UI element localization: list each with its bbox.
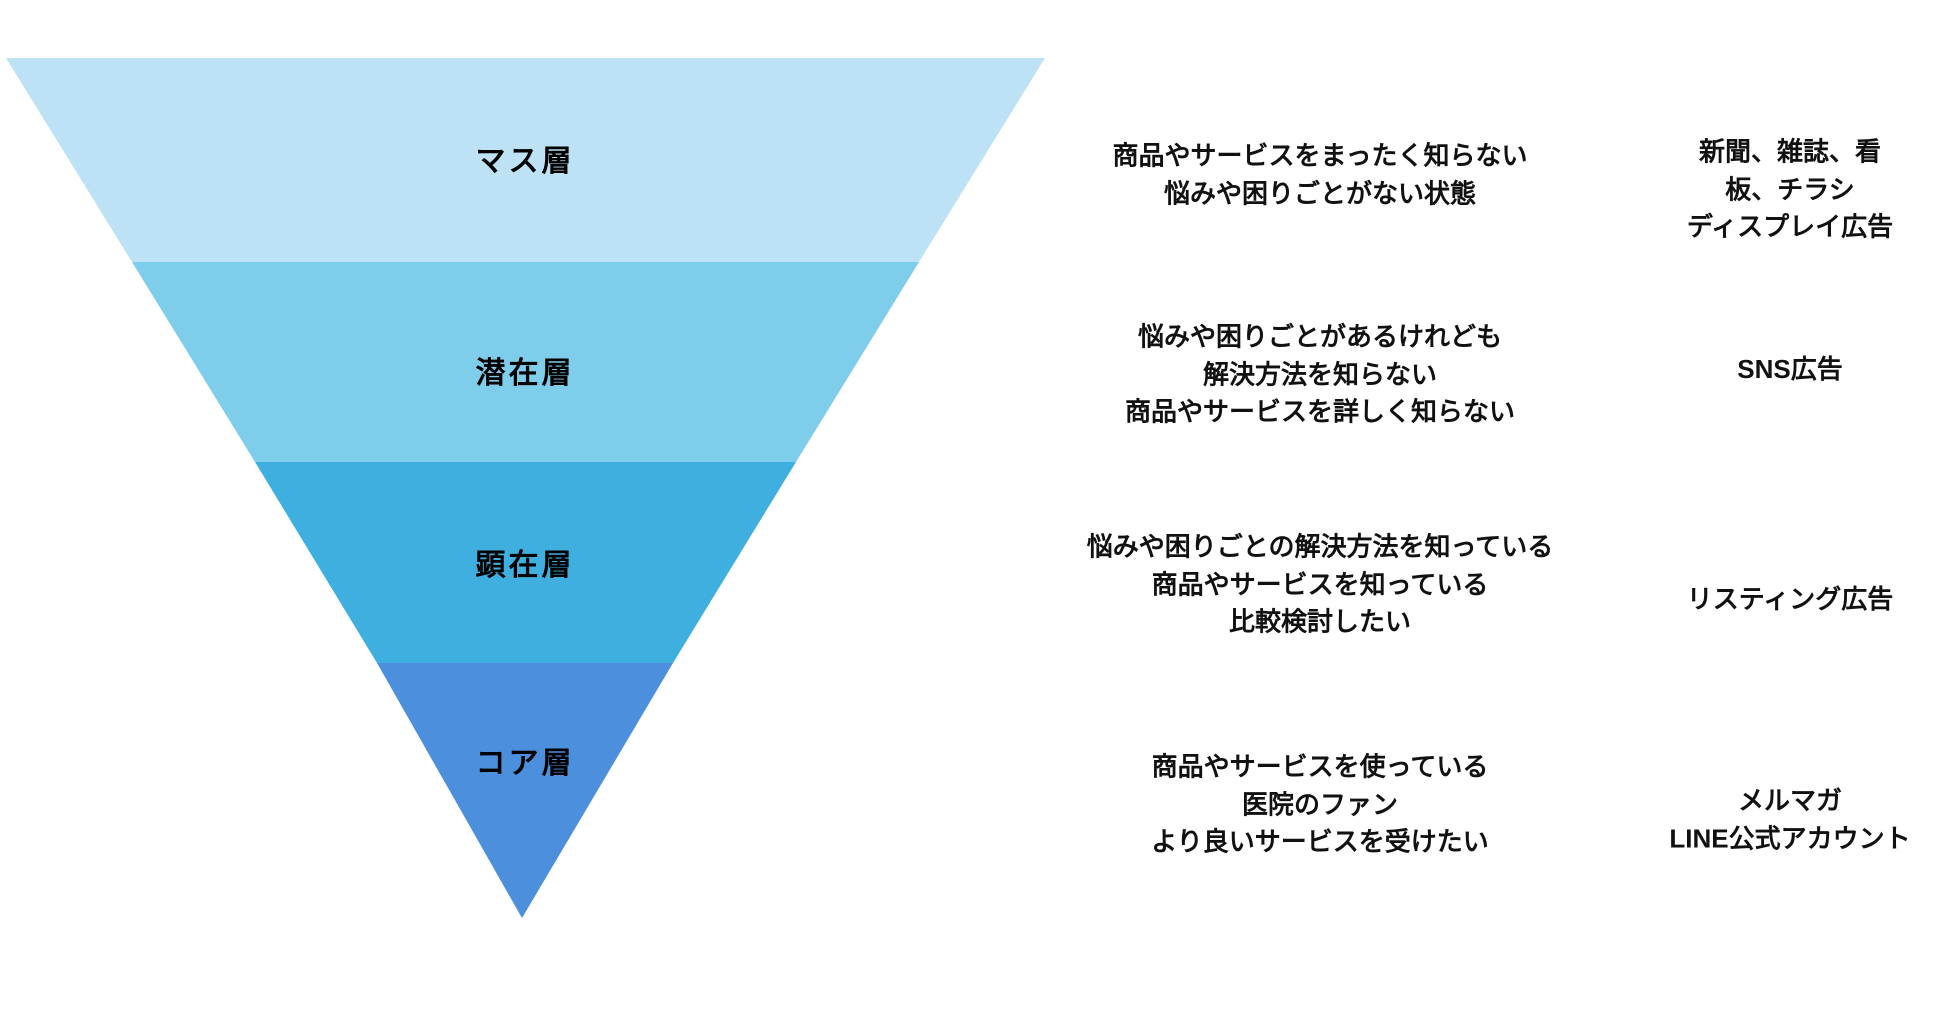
channel-line: LINE公式アカウント xyxy=(1640,820,1940,858)
description-line: 医院のファン xyxy=(1020,786,1620,824)
channel-line: リスティング広告 xyxy=(1640,581,1940,619)
funnel-band-1 xyxy=(6,58,1045,262)
funnel-band-2 xyxy=(132,262,919,462)
channel-line: 新聞、雑誌、看 xyxy=(1640,133,1940,171)
description-line: 比較検討したい xyxy=(1020,604,1620,642)
channel-group-2: SNS広告 xyxy=(1640,351,1940,389)
description-line: 悩みや困りごとがあるけれども xyxy=(1020,318,1620,356)
description-group-1: 商品やサービスをまったく知らない 悩みや困りごとがない状態 xyxy=(1020,137,1620,212)
funnel-band-4 xyxy=(377,663,673,918)
diagram-canvas: マス層 潜在層 顕在層 コア層 商品やサービスをまったく知らない 悩みや困りごと… xyxy=(0,0,1954,1024)
funnel-figure: マス層 潜在層 顕在層 コア層 xyxy=(0,0,1100,1000)
description-group-2: 悩みや困りごとがあるけれども 解決方法を知らない 商品やサービスを詳しく知らない xyxy=(1020,318,1620,431)
description-line: 商品やサービスを知っている xyxy=(1020,566,1620,604)
description-line: 商品やサービスを使っている xyxy=(1020,748,1620,786)
description-line: より良いサービスを受けたい xyxy=(1020,824,1620,862)
channel-group-4: メルマガ LINE公式アカウント xyxy=(1640,782,1940,857)
description-line: 悩みや困りごとの解決方法を知っている xyxy=(1020,528,1620,566)
channel-line: 板、チラシ xyxy=(1640,171,1940,209)
description-line: 商品やサービスをまったく知らない xyxy=(1020,137,1620,175)
channel-line: メルマガ xyxy=(1640,782,1940,820)
funnel-band-3 xyxy=(255,462,796,663)
description-group-4: 商品やサービスを使っている 医院のファン より良いサービスを受けたい xyxy=(1020,748,1620,861)
description-line: 解決方法を知らない xyxy=(1020,356,1620,394)
channel-line: SNS広告 xyxy=(1640,351,1940,389)
channel-group-3: リスティング広告 xyxy=(1640,581,1940,619)
channel-group-1: 新聞、雑誌、看 板、チラシ ディスプレイ広告 xyxy=(1640,133,1940,246)
description-line: 商品やサービスを詳しく知らない xyxy=(1020,394,1620,432)
funnel-svg xyxy=(0,0,1100,1000)
description-line: 悩みや困りごとがない状態 xyxy=(1020,175,1620,213)
channel-line: ディスプレイ広告 xyxy=(1640,209,1940,247)
description-group-3: 悩みや困りごとの解決方法を知っている 商品やサービスを知っている 比較検討したい xyxy=(1020,528,1620,641)
